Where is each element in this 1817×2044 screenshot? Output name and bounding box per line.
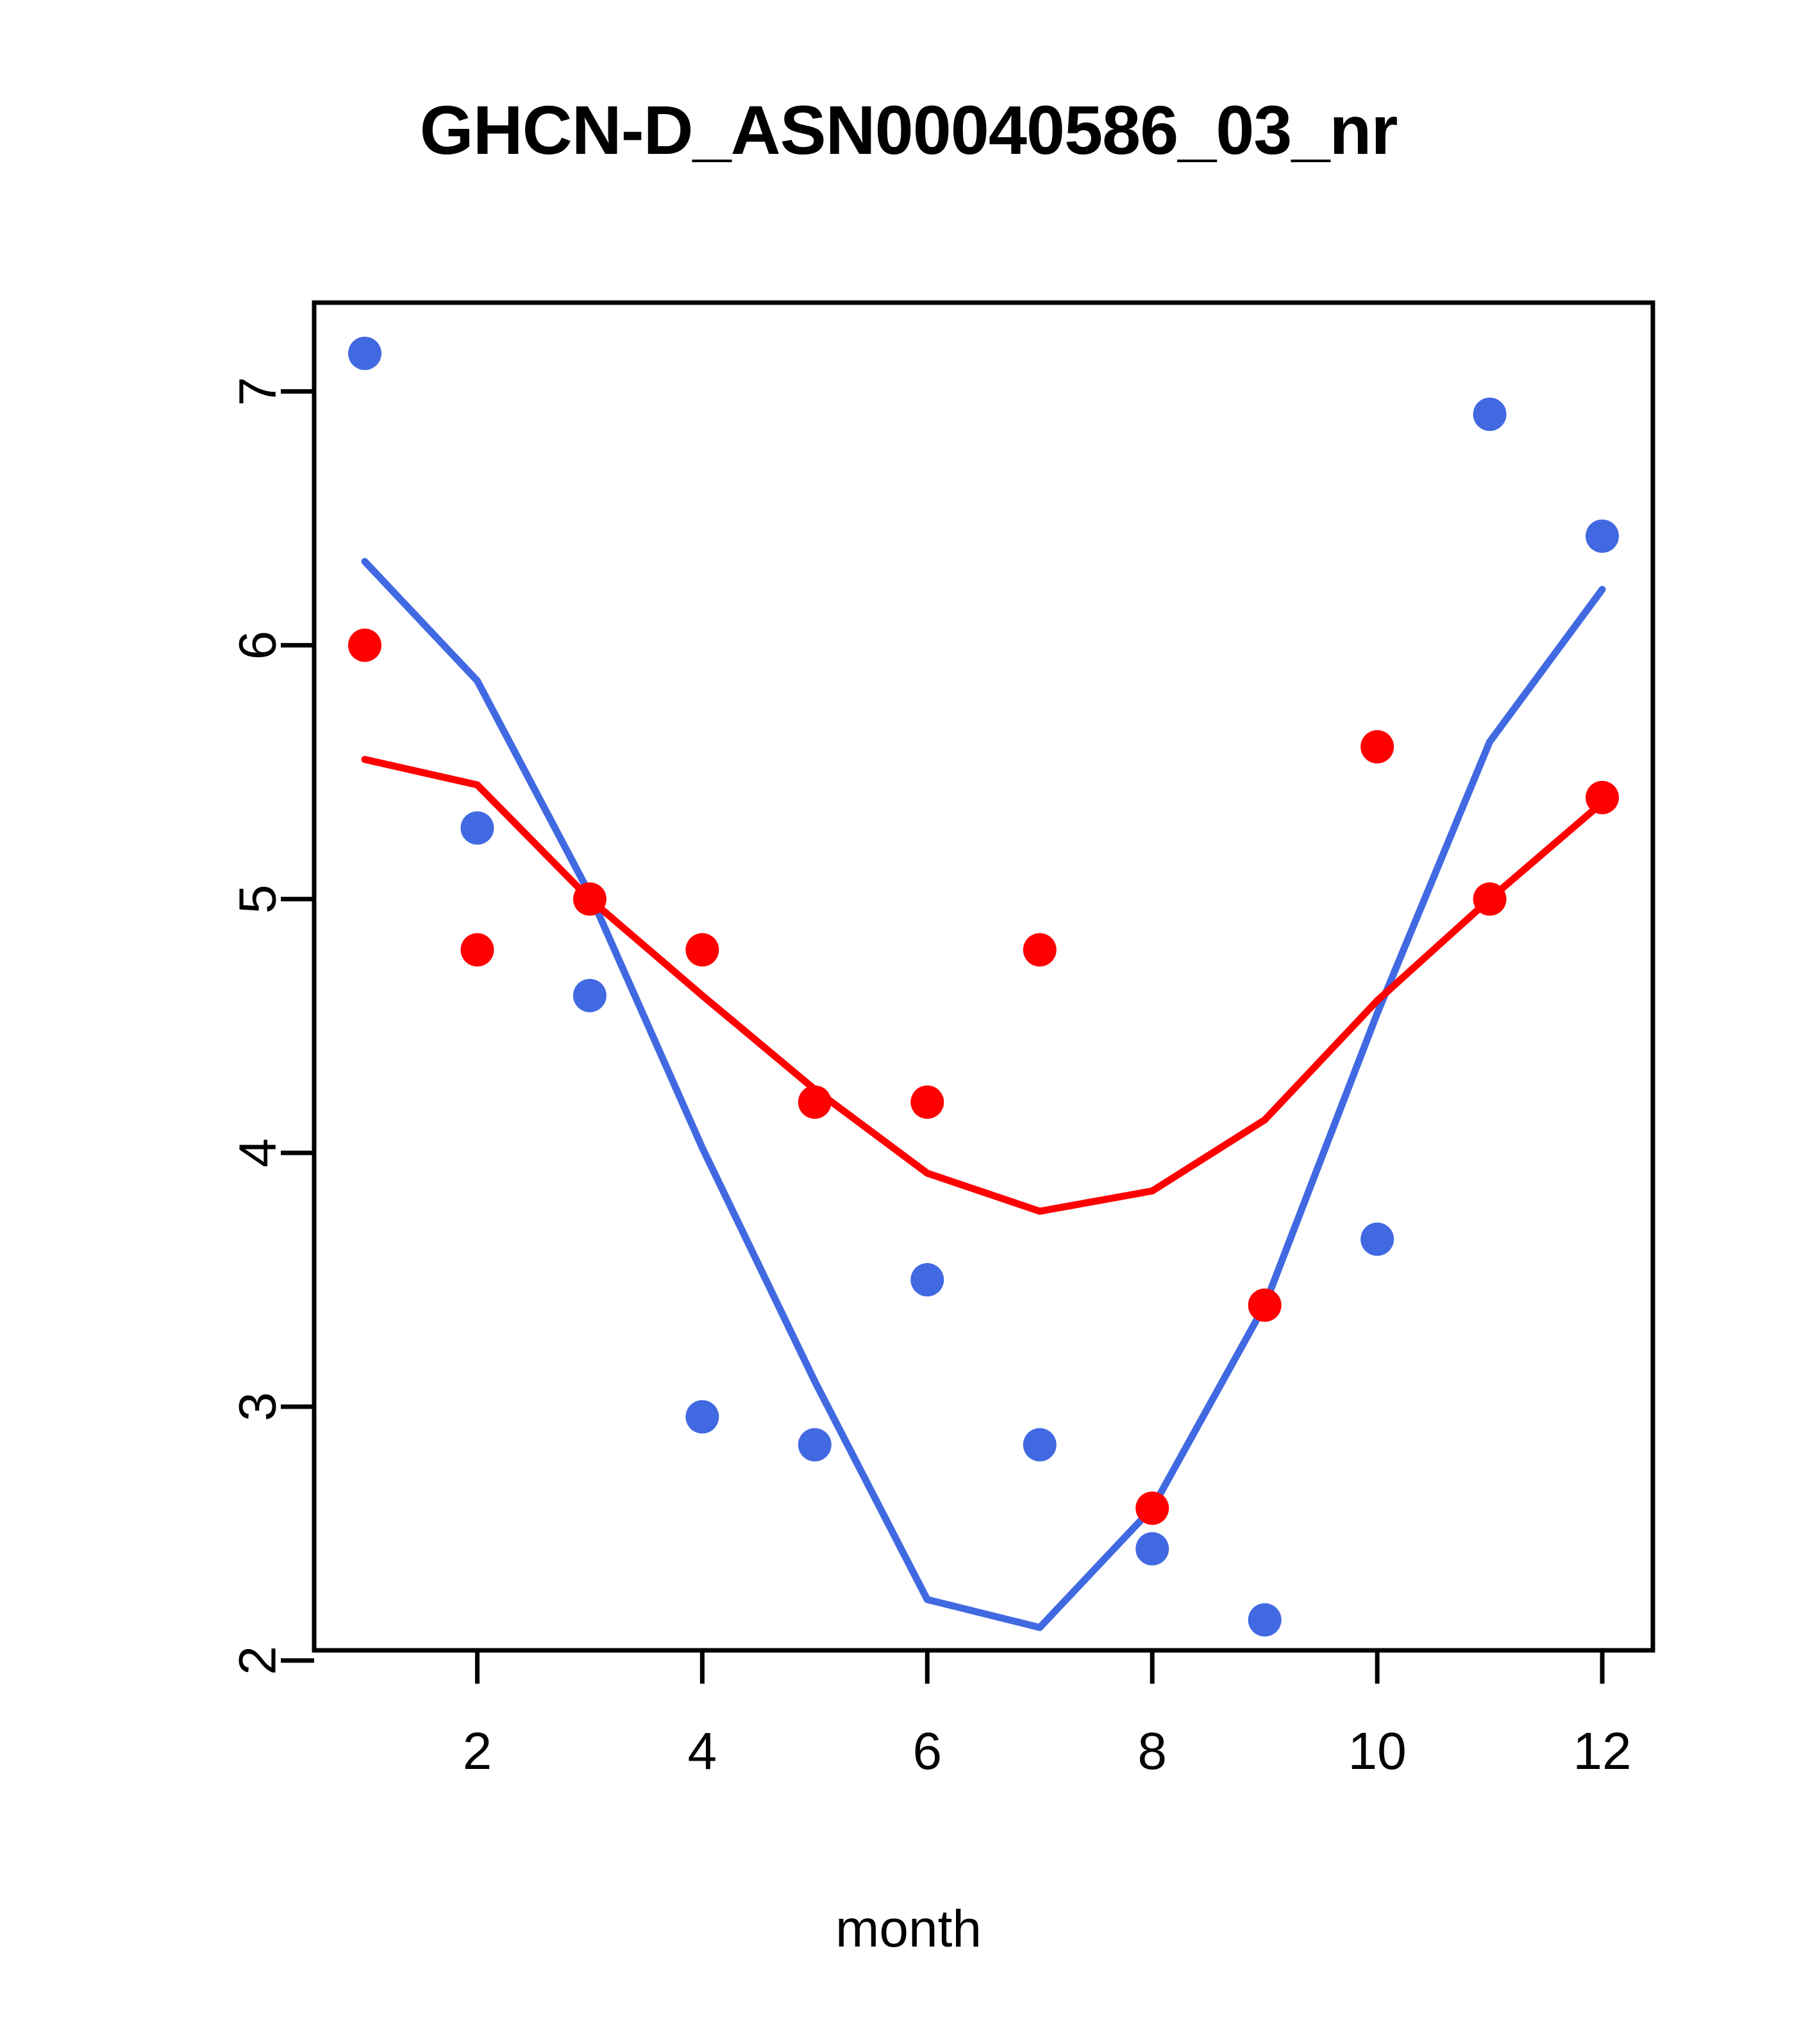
series-line-red-line [365,760,1602,1212]
data-point-red-points-9 [1248,1289,1282,1322]
x-tick-label-12: 12 [1573,1722,1631,1780]
data-point-blue-points-4 [685,1400,719,1434]
data-point-red-points-10 [1361,730,1394,764]
series-line-blue-line [365,562,1602,1628]
data-point-red-points-5 [798,1085,832,1119]
data-point-red-points-8 [1135,1491,1169,1525]
series-group [348,337,1619,1636]
data-point-blue-points-9 [1248,1603,1282,1636]
data-point-blue-points-7 [1023,1428,1057,1461]
plot-border [314,303,1653,1650]
x-tick-label-6: 6 [912,1722,942,1780]
data-point-red-points-4 [685,933,719,966]
data-point-red-points-12 [1586,781,1619,814]
data-point-blue-points-2 [460,811,494,844]
data-point-red-points-1 [348,628,381,662]
data-point-red-points-3 [573,882,607,916]
data-point-blue-points-5 [798,1428,832,1461]
data-point-red-points-11 [1473,882,1507,916]
data-point-blue-points-12 [1586,519,1619,553]
plot-area: 23456724681012 [0,0,1817,2044]
data-point-blue-points-11 [1473,398,1507,431]
y-tick-label-5: 5 [229,884,287,914]
y-tick-label-4: 4 [229,1138,287,1168]
data-point-red-points-6 [910,1085,944,1119]
x-axis-label: month [0,1899,1817,1959]
data-point-blue-points-10 [1361,1223,1394,1256]
data-point-red-points-2 [460,933,494,966]
x-tick-label-4: 4 [688,1722,717,1780]
x-tick-label-2: 2 [463,1722,492,1780]
x-tick-label-10: 10 [1348,1722,1407,1780]
data-point-blue-points-6 [910,1263,944,1296]
data-point-blue-points-1 [348,337,381,370]
y-tick-label-6: 6 [229,631,287,660]
y-tick-label-7: 7 [229,377,287,406]
x-tick-label-8: 8 [1137,1722,1167,1780]
chart-figure: GHCN-D_ASN00040586_03_nr 23456724681012 … [0,0,1817,2044]
y-tick-label-3: 3 [229,1392,287,1421]
data-point-red-points-7 [1023,933,1057,966]
data-point-blue-points-8 [1135,1532,1169,1566]
data-point-blue-points-3 [573,979,607,1012]
y-tick-label-2: 2 [229,1646,287,1675]
